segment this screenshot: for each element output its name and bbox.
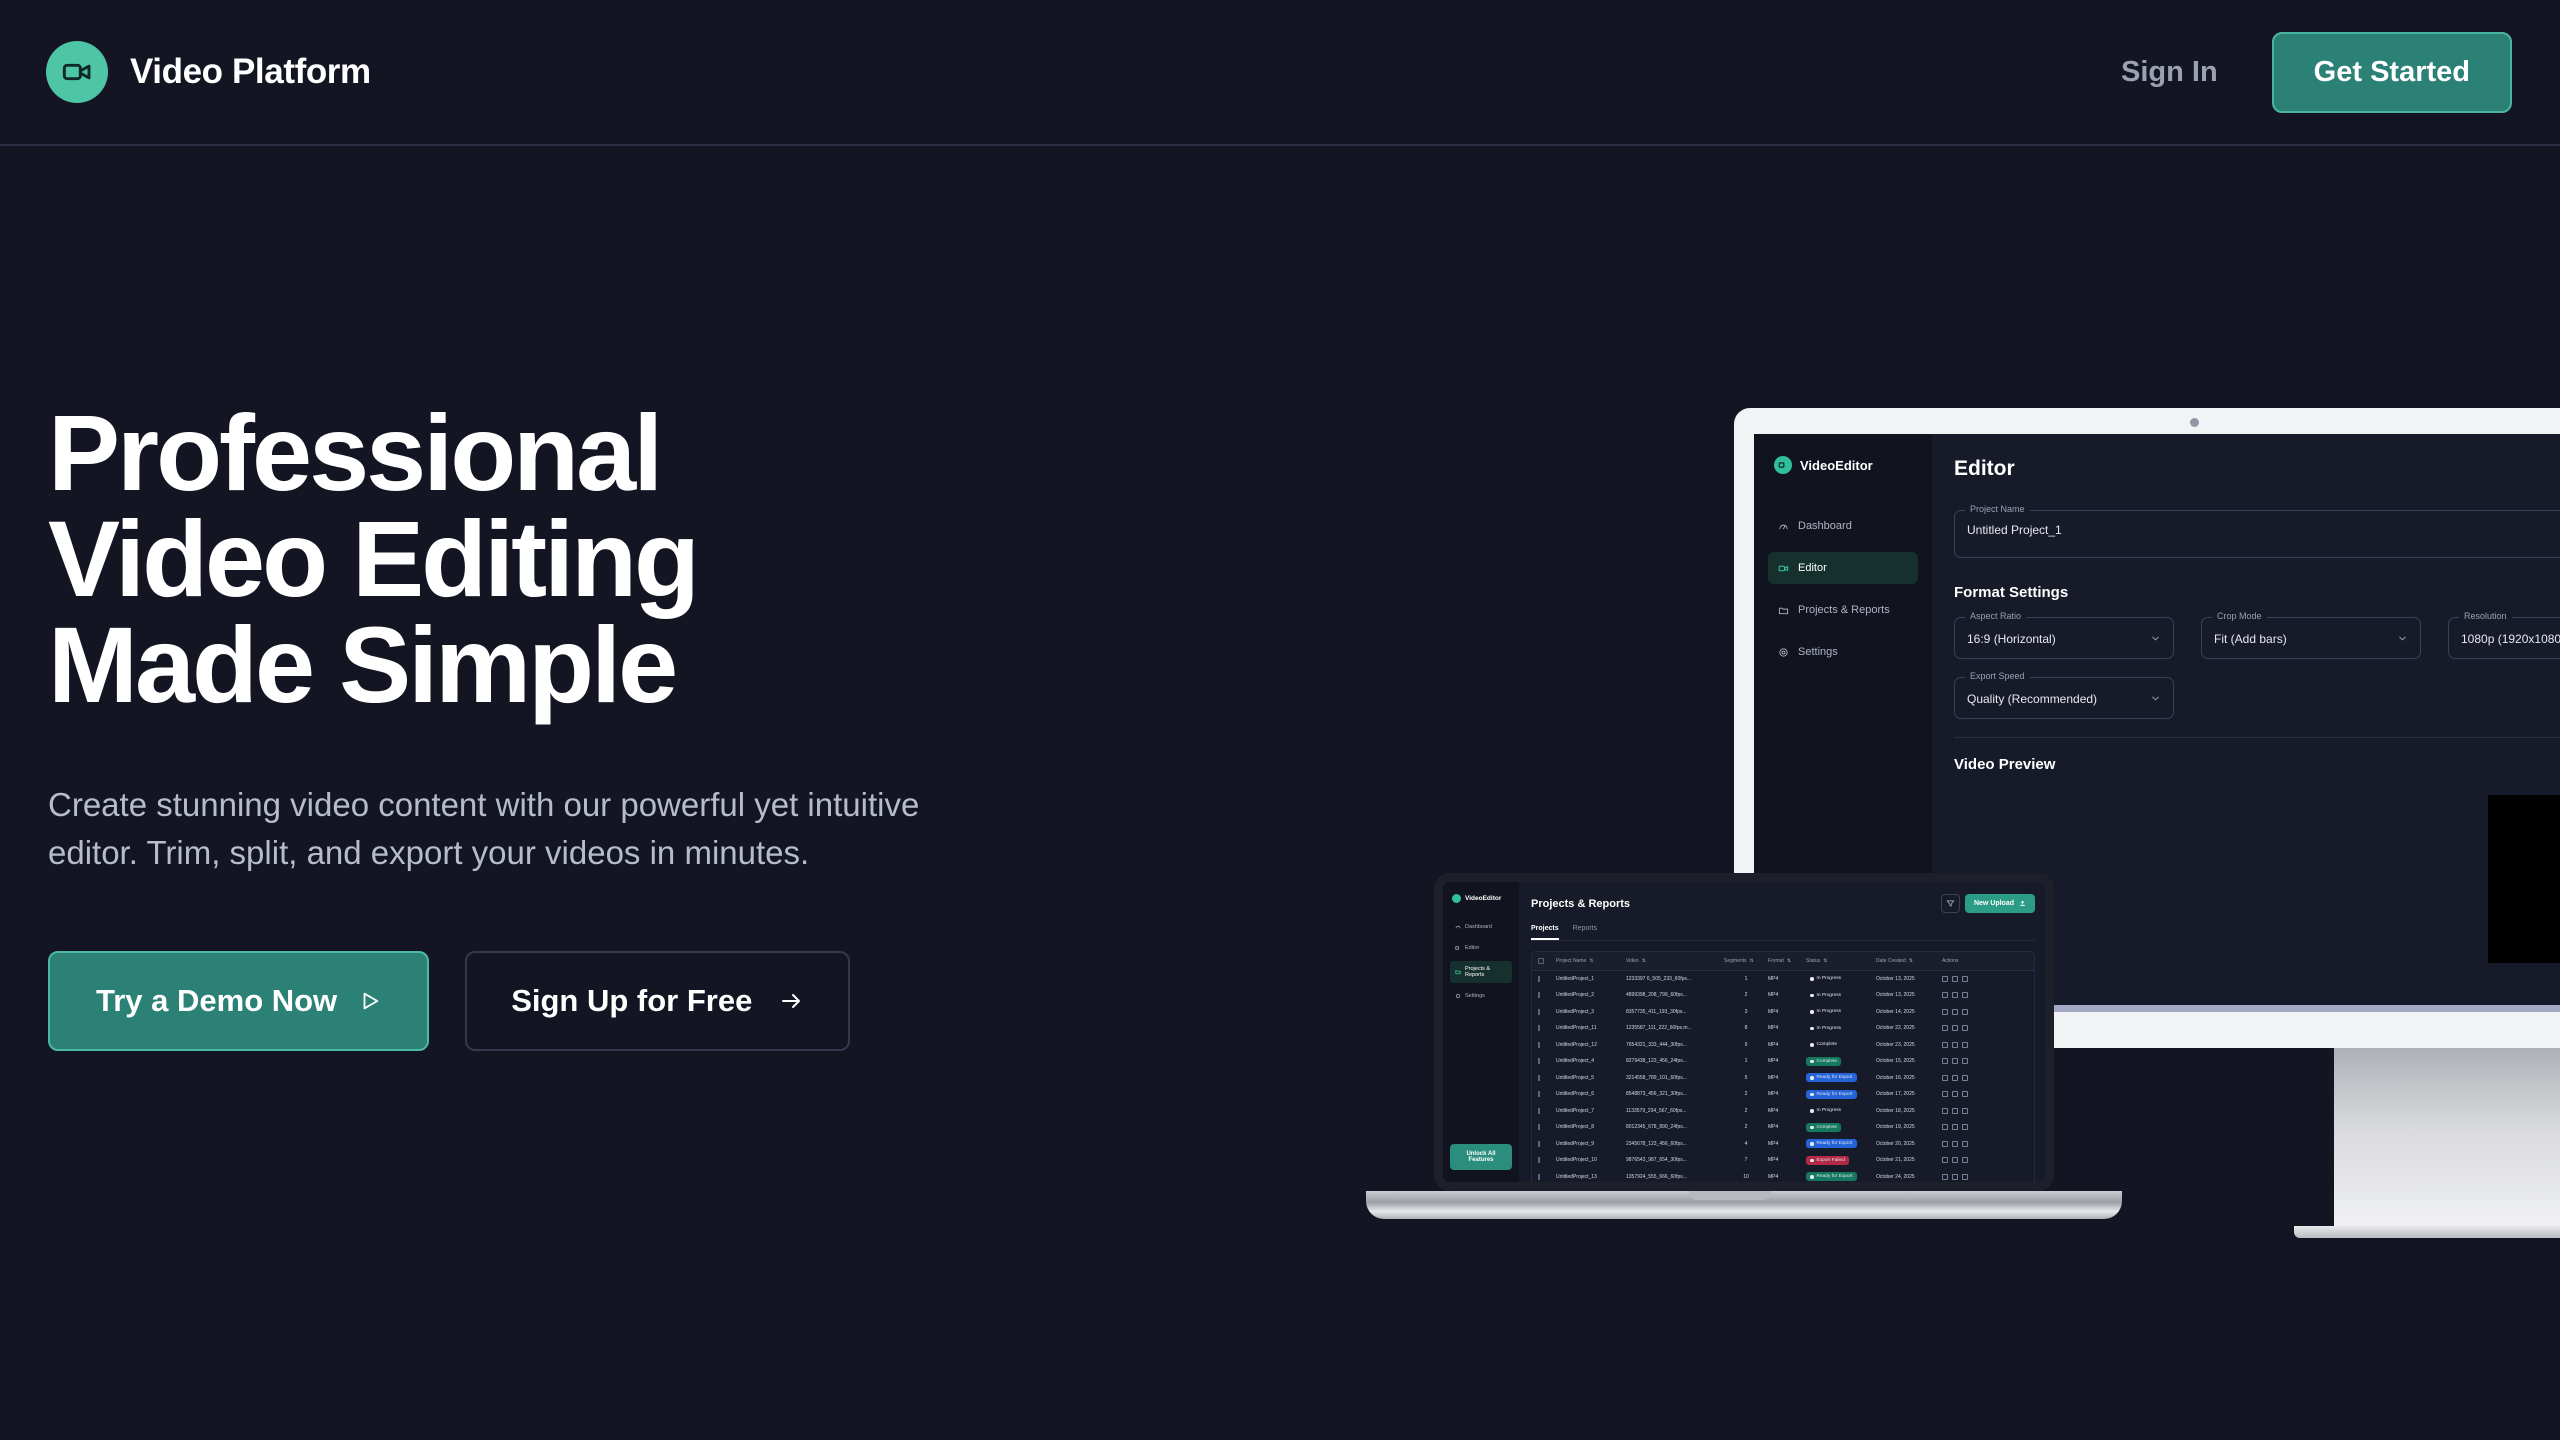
cell-format: MP4 (1768, 1108, 1806, 1114)
download-icon[interactable] (1952, 1141, 1958, 1147)
sidebar-item-editor[interactable]: Editor (1450, 940, 1512, 956)
cell-segments: 8 (1724, 1025, 1768, 1031)
cell-format: MP4 (1768, 1025, 1806, 1031)
cell-project-name: UntitledProject_12 (1556, 1042, 1626, 1048)
row-checkbox[interactable] (1538, 1009, 1556, 1015)
cell-project-name: UntitledProject_10 (1556, 1157, 1626, 1163)
gauge-icon (1778, 521, 1789, 532)
table-body: UntitledProject_11233397 6_505_233_60fps… (1532, 971, 2034, 1182)
folder-icon (1778, 605, 1789, 616)
sign-in-link[interactable]: Sign In (2121, 56, 2218, 89)
cell-date-created: October 15, 2025 (1876, 1058, 1942, 1064)
table-row[interactable]: UntitledProject_71133579_234_567_60fps..… (1532, 1103, 2034, 1120)
laptop-mockup: VideoEditor Dashboard Editor Projec (1330, 873, 2130, 1253)
chevron-down-icon (2397, 633, 2408, 644)
crop-mode-value: Fit (Add bars) (2214, 632, 2287, 646)
row-checkbox[interactable] (1538, 1108, 1556, 1114)
sort-icon: ⇅ (1909, 958, 1913, 964)
row-checkbox[interactable] (1538, 1025, 1556, 1031)
project-name-label: Project Name (1965, 504, 2030, 514)
trash-icon[interactable] (1962, 1091, 1968, 1097)
cell-date-created: October 18, 2025 (1876, 1108, 1942, 1114)
gauge-icon (1455, 924, 1461, 930)
new-upload-button[interactable]: New Upload (1965, 894, 2035, 913)
cell-project-name: UntitledProject_1 (1556, 976, 1626, 982)
try-demo-label: Try a Demo Now (96, 983, 337, 1019)
projects-app-screen: VideoEditor Dashboard Editor Projec (1443, 882, 2045, 1182)
cell-project-name: UntitledProject_11 (1556, 1025, 1626, 1031)
project-name-value: Untitled Project_1 (1967, 523, 2062, 537)
column-header-date-created[interactable]: Date Created⇅ (1876, 958, 1942, 964)
sort-icon: ⇅ (1750, 958, 1754, 964)
edit-icon[interactable] (1942, 1157, 1948, 1163)
select-all-checkbox[interactable] (1538, 958, 1556, 964)
row-checkbox[interactable] (1538, 1157, 1556, 1163)
cell-video: 1233397 6_505_233_60fps... (1626, 976, 1724, 982)
cell-video: 8548873_456_321_30fps... (1626, 1091, 1724, 1097)
cell-date-created: October 17, 2025 (1876, 1091, 1942, 1097)
tab-reports[interactable]: Reports (1573, 925, 1598, 940)
cell-project-name: UntitledProject_8 (1556, 1124, 1626, 1130)
sidebar-label: Dashboard (1465, 924, 1492, 930)
cell-segments: 9 (1724, 1042, 1768, 1048)
aspect-ratio-value: 16:9 (Horizontal) (1967, 632, 2056, 646)
row-checkbox[interactable] (1538, 992, 1556, 998)
cell-segments: 2 (1724, 1091, 1768, 1097)
monitor-stand (2334, 1048, 2560, 1228)
divider (1954, 737, 2560, 738)
folder-icon (1455, 969, 1461, 975)
sidebar-label: Projects & Reports (1465, 966, 1507, 978)
cell-project-name: UntitledProject_3 (1556, 1009, 1626, 1015)
download-icon[interactable] (1952, 976, 1958, 982)
projects-toolbar: Projects & Reports New Upload (1531, 894, 2035, 913)
cell-video: 8357735_411_193_30fps... (1626, 1009, 1724, 1015)
cell-project-name: UntitledProject_4 (1556, 1058, 1626, 1064)
status-badge: Ready for Export (1806, 1139, 1876, 1148)
table-row[interactable]: UntitledProject_92345678_123_456_60fps..… (1532, 1136, 2034, 1153)
cell-format: MP4 (1768, 1009, 1806, 1015)
video-camera-icon (46, 41, 108, 103)
download-icon[interactable] (1952, 1157, 1958, 1163)
trash-icon[interactable] (1962, 1141, 1968, 1147)
chevron-down-icon (2150, 693, 2161, 704)
row-checkbox[interactable] (1538, 1091, 1556, 1097)
row-actions[interactable] (1942, 1174, 1986, 1180)
row-actions[interactable] (1942, 976, 1986, 982)
resolution-label: Resolution (2459, 611, 2512, 621)
trash-icon[interactable] (1962, 1157, 1968, 1163)
edit-icon[interactable] (1942, 1108, 1948, 1114)
edit-icon[interactable] (1942, 1174, 1948, 1180)
row-actions[interactable] (1942, 1025, 1986, 1031)
download-icon[interactable] (1952, 1025, 1958, 1031)
table-header-row: Project Name⇅ Video⇅ Segments⇅ Format⇅ S… (1532, 952, 2034, 971)
sidebar-item-projects-reports[interactable]: Projects & Reports (1768, 594, 1918, 626)
cell-video: 1235587_111_222_60fps.m... (1626, 1025, 1724, 1031)
download-icon[interactable] (1952, 1075, 1958, 1081)
cell-format: MP4 (1768, 1157, 1806, 1163)
sort-icon: ⇅ (1642, 958, 1646, 964)
cell-segments: 2 (1724, 1108, 1768, 1114)
cell-segments: 1 (1724, 1058, 1768, 1064)
editor-page-title: Editor (1954, 457, 2015, 481)
cell-video: 8279438_123_456_24fps... (1626, 1058, 1724, 1064)
table-row[interactable]: UntitledProject_48279438_123_456_24fps..… (1532, 1054, 2034, 1071)
cell-project-name: UntitledProject_7 (1556, 1108, 1626, 1114)
format-settings-row-1: Aspect Ratio 16:9 (Horizontal) Crop Mode… (1954, 617, 2560, 659)
editor-toolbar: Editor Save Exp (1954, 452, 2560, 486)
sidebar-label: Dashboard (1798, 520, 1852, 532)
download-icon[interactable] (1952, 1124, 1958, 1130)
cell-date-created: October 16, 2025 (1876, 1075, 1942, 1081)
cell-project-name: UntitledProject_5 (1556, 1075, 1626, 1081)
table-row[interactable]: UntitledProject_38357735_411_193_30fps..… (1532, 1004, 2034, 1021)
status-badge: Ready for Export (1806, 1073, 1876, 1082)
trash-icon[interactable] (1962, 992, 1968, 998)
play-triangle-icon (359, 989, 381, 1013)
download-icon[interactable] (1952, 1058, 1958, 1064)
laptop-lid: VideoEditor Dashboard Editor Projec (1434, 873, 2054, 1191)
cell-video: 1133579_234_567_60fps... (1626, 1108, 1724, 1114)
edit-icon[interactable] (1942, 1058, 1948, 1064)
row-actions[interactable] (1942, 1124, 1986, 1130)
status-badge: In Progress (1806, 1007, 1876, 1016)
brand-name: Video Platform (130, 52, 371, 92)
cell-date-created: October 22, 2025 (1876, 1025, 1942, 1031)
aspect-ratio-select[interactable]: Aspect Ratio 16:9 (Horizontal) (1954, 617, 2174, 659)
cell-date-created: October 24, 2025 (1876, 1174, 1942, 1180)
cell-format: MP4 (1768, 1042, 1806, 1048)
sort-icon: ⇅ (1589, 958, 1593, 964)
chevron-down-icon (2150, 633, 2161, 644)
row-checkbox[interactable] (1538, 1141, 1556, 1147)
edit-icon[interactable] (1942, 1124, 1948, 1130)
edit-icon[interactable] (1942, 1025, 1948, 1031)
video-preview-header: Video Preview Video player size (1954, 756, 2560, 773)
trash-icon[interactable] (1962, 1058, 1968, 1064)
row-actions[interactable] (1942, 1042, 1986, 1048)
row-actions[interactable] (1942, 1075, 1986, 1081)
column-header-actions: Actions (1942, 958, 1986, 964)
landing-page: Video Platform Sign In Get Started Profe… (0, 0, 2560, 1440)
sort-icon: ⇅ (1787, 958, 1791, 964)
trash-icon[interactable] (1962, 1009, 1968, 1015)
edit-icon[interactable] (1942, 1075, 1948, 1081)
row-checkbox[interactable] (1538, 1075, 1556, 1081)
cell-segments: 1 (1724, 976, 1768, 982)
row-checkbox[interactable] (1538, 1124, 1556, 1130)
sidebar-item-editor[interactable]: Editor (1768, 552, 1918, 584)
projects-toolbar-buttons: New Upload (1941, 894, 2035, 913)
monitor-foot (2294, 1226, 2560, 1238)
row-checkbox[interactable] (1538, 1058, 1556, 1064)
cell-format: MP4 (1768, 992, 1806, 998)
trash-icon[interactable] (1962, 1124, 1968, 1130)
projects-tabs: Projects Reports (1531, 925, 2035, 941)
cell-format: MP4 (1768, 1124, 1806, 1130)
trash-icon[interactable] (1962, 976, 1968, 982)
row-actions[interactable] (1942, 992, 1986, 998)
status-badge: Complete (1806, 1040, 1876, 1049)
row-actions[interactable] (1942, 1141, 1986, 1147)
table-row[interactable]: UntitledProject_127654321_333_444_30fps.… (1532, 1037, 2034, 1054)
hero-cta-group: Try a Demo Now Sign Up for Free (48, 951, 1168, 1051)
status-badge: In Progress (1806, 1106, 1876, 1115)
sidebar-item-dashboard[interactable]: Dashboard (1450, 919, 1512, 935)
sort-icon: ⇅ (1823, 958, 1827, 964)
projects-sidebar: VideoEditor Dashboard Editor Projec (1443, 882, 1519, 1182)
cell-date-created: October 23, 2025 (1876, 1042, 1942, 1048)
cell-format: MP4 (1768, 1141, 1806, 1147)
download-icon[interactable] (1952, 1091, 1958, 1097)
status-badge: Ready for Export (1806, 1090, 1876, 1099)
table-row[interactable]: UntitledProject_111235587_111_222_60fps.… (1532, 1021, 2034, 1038)
table-row[interactable]: UntitledProject_11233397 6_505_233_60fps… (1532, 971, 2034, 988)
row-checkbox[interactable] (1538, 976, 1556, 982)
edit-icon[interactable] (1942, 992, 1948, 998)
edit-icon[interactable] (1942, 1042, 1948, 1048)
cell-video: 1357924_555_666_60fps... (1626, 1174, 1724, 1180)
header-actions: Sign In Get Started (2121, 32, 2512, 113)
new-upload-label: New Upload (1974, 900, 2014, 907)
cell-video: 3214558_789_101_60fps... (1626, 1075, 1724, 1081)
projects-brand: VideoEditor (1450, 894, 1512, 903)
row-actions[interactable] (1942, 1091, 1986, 1097)
trash-icon[interactable] (1962, 1174, 1968, 1180)
cell-format: MP4 (1768, 1174, 1806, 1180)
cell-segments: 10 (1724, 1174, 1768, 1180)
sidebar-label: Settings (1465, 993, 1485, 999)
projects-brand-name: VideoEditor (1465, 895, 1501, 902)
cell-date-created: October 19, 2025 (1876, 1124, 1942, 1130)
download-icon[interactable] (1952, 1108, 1958, 1114)
cell-segments: 3 (1724, 1009, 1768, 1015)
editor-brand: VideoEditor (1768, 456, 1918, 474)
export-speed-select[interactable]: Export Speed Quality (Recommended) (1954, 677, 2174, 719)
row-actions[interactable] (1942, 1009, 1986, 1015)
table-row[interactable]: UntitledProject_24899398_208_799_60fps..… (1532, 988, 2034, 1005)
cell-segments: 2 (1724, 992, 1768, 998)
sidebar-label: Projects & Reports (1798, 604, 1890, 616)
status-badge: Complete (1806, 1057, 1876, 1066)
sidebar-item-dashboard[interactable]: Dashboard (1768, 510, 1918, 542)
sign-up-free-button[interactable]: Sign Up for Free (465, 951, 850, 1051)
gear-icon (1455, 993, 1461, 999)
site-header: Video Platform Sign In Get Started (0, 0, 2560, 146)
edit-icon[interactable] (1942, 1141, 1948, 1147)
aspect-ratio-label: Aspect Ratio (1965, 611, 2026, 621)
status-badge: In Progress (1806, 974, 1876, 983)
cell-format: MP4 (1768, 1075, 1806, 1081)
cell-project-name: UntitledProject_2 (1556, 992, 1626, 998)
status-badge: Ready for Export (1806, 1172, 1876, 1181)
download-icon[interactable] (1952, 992, 1958, 998)
column-header-segments[interactable]: Segments⇅ (1724, 958, 1768, 964)
edit-icon[interactable] (1942, 976, 1948, 982)
column-header-video[interactable]: Video⇅ (1626, 958, 1724, 964)
video-camera-icon (1778, 563, 1789, 574)
arrow-right-icon (778, 989, 804, 1013)
trash-icon[interactable] (1962, 1025, 1968, 1031)
brand-logo[interactable]: Video Platform (46, 41, 371, 103)
cell-video: 4899398_208_799_60fps... (1626, 992, 1724, 998)
projects-page-title: Projects & Reports (1531, 898, 1630, 910)
cell-video: 2345678_123_456_60fps... (1626, 1141, 1724, 1147)
row-actions[interactable] (1942, 1157, 1986, 1163)
gear-icon (1778, 647, 1789, 658)
status-badge: Complete (1806, 1123, 1876, 1132)
page-title: Professional Video Editing Made Simple (48, 400, 1168, 717)
cell-segments: 2 (1724, 1124, 1768, 1130)
sign-up-free-label: Sign Up for Free (511, 983, 752, 1019)
format-settings-title: Format Settings (1954, 584, 2560, 601)
crop-mode-select[interactable]: Crop Mode Fit (Add bars) (2201, 617, 2421, 659)
cell-format: MP4 (1768, 1091, 1806, 1097)
trash-icon[interactable] (1962, 1108, 1968, 1114)
export-speed-value: Quality (Recommended) (1967, 692, 2097, 706)
download-icon[interactable] (1952, 1009, 1958, 1015)
cell-date-created: October 14, 2025 (1876, 1009, 1942, 1015)
cell-date-created: October 13, 2025 (1876, 992, 1942, 998)
try-demo-button[interactable]: Try a Demo Now (48, 951, 429, 1051)
status-badge: Export Failed (1806, 1156, 1876, 1165)
cell-video: 9876543_987_654_30fps... (1626, 1157, 1724, 1163)
video-camera-icon (1455, 945, 1461, 951)
cell-segments: 4 (1724, 1141, 1768, 1147)
crop-mode-label: Crop Mode (2212, 611, 2267, 621)
cell-format: MP4 (1768, 1058, 1806, 1064)
sidebar-item-projects-reports[interactable]: Projects & Reports (1450, 961, 1512, 983)
sidebar-item-settings[interactable]: Settings (1768, 636, 1918, 668)
resolution-value: 1080p (1920x1080) (2461, 632, 2560, 646)
funnel-icon[interactable] (1941, 894, 1960, 913)
row-checkbox[interactable] (1538, 1174, 1556, 1180)
video-player[interactable] (2488, 795, 2560, 963)
cell-video: 8012345_678_890_24fps... (1626, 1124, 1724, 1130)
cell-date-created: October 20, 2025 (1876, 1141, 1942, 1147)
cell-project-name: UntitledProject_6 (1556, 1091, 1626, 1097)
upload-icon (2019, 900, 2026, 907)
camera-dot-icon (2190, 418, 2199, 427)
video-camera-icon (1774, 456, 1792, 474)
sidebar-label: Settings (1798, 646, 1838, 658)
laptop-base-notch (1689, 1191, 1771, 1200)
cell-video: 7654321_333_444_30fps... (1626, 1042, 1724, 1048)
table-row[interactable]: UntitledProject_109876543_987_654_30fps.… (1532, 1153, 2034, 1170)
table-row[interactable]: UntitledProject_68548873_456_321_30fps..… (1532, 1087, 2034, 1104)
resolution-select[interactable]: Resolution 1080p (1920x1080) (2448, 617, 2560, 659)
cell-segments: 5 (1724, 1075, 1768, 1081)
editor-brand-name: VideoEditor (1800, 458, 1873, 473)
format-settings-row-2: Export Speed Quality (Recommended) (1954, 677, 2560, 719)
video-preview-title: Video Preview (1954, 756, 2055, 773)
video-camera-icon (1452, 894, 1461, 903)
cell-segments: 7 (1724, 1157, 1768, 1163)
export-speed-label: Export Speed (1965, 671, 2030, 681)
column-header-project-name[interactable]: Project Name⇅ (1556, 958, 1626, 964)
project-name-field[interactable]: Project Name Untitled Project_1 (1954, 510, 2560, 558)
cell-project-name: UntitledProject_9 (1556, 1141, 1626, 1147)
row-checkbox[interactable] (1538, 1042, 1556, 1048)
cell-format: MP4 (1768, 976, 1806, 982)
sidebar-label: Editor (1465, 945, 1479, 951)
cell-project-name: UntitledProject_13 (1556, 1174, 1626, 1180)
edit-icon[interactable] (1942, 1009, 1948, 1015)
status-badge: In Progress (1806, 1024, 1876, 1033)
get-started-button[interactable]: Get Started (2272, 32, 2512, 113)
download-icon[interactable] (1952, 1042, 1958, 1048)
sidebar-item-settings[interactable]: Settings (1450, 988, 1512, 1004)
edit-icon[interactable] (1942, 1091, 1948, 1097)
status-badge: In Progress (1806, 991, 1876, 1000)
hero-subtitle: Create stunning video content with our p… (48, 781, 1118, 877)
hero-section: Professional Video Editing Made Simple C… (48, 400, 1168, 1051)
product-mockup: VideoEditor Dashboard Editor (1330, 380, 2560, 1230)
table-row[interactable]: UntitledProject_131357924_555_666_60fps.… (1532, 1169, 2034, 1182)
column-header-status[interactable]: Status⇅ (1806, 958, 1876, 964)
sidebar-label: Editor (1798, 562, 1827, 574)
download-icon[interactable] (1952, 1174, 1958, 1180)
row-actions[interactable] (1942, 1108, 1986, 1114)
cell-date-created: October 21, 2025 (1876, 1157, 1942, 1163)
column-header-format[interactable]: Format⇅ (1768, 958, 1806, 964)
trash-icon[interactable] (1962, 1075, 1968, 1081)
trash-icon[interactable] (1962, 1042, 1968, 1048)
projects-main: Projects & Reports New Upload (1519, 882, 2045, 1182)
cell-date-created: October 13, 2025 (1876, 976, 1942, 982)
projects-table: Project Name⇅ Video⇅ Segments⇅ Format⇅ S… (1531, 951, 2035, 1182)
tab-projects[interactable]: Projects (1531, 925, 1559, 940)
table-row[interactable]: UntitledProject_53214558_789_101_60fps..… (1532, 1070, 2034, 1087)
unlock-all-features-button[interactable]: Unlock All Features (1450, 1144, 1512, 1170)
row-actions[interactable] (1942, 1058, 1986, 1064)
table-row[interactable]: UntitledProject_88012345_678_890_24fps..… (1532, 1120, 2034, 1137)
